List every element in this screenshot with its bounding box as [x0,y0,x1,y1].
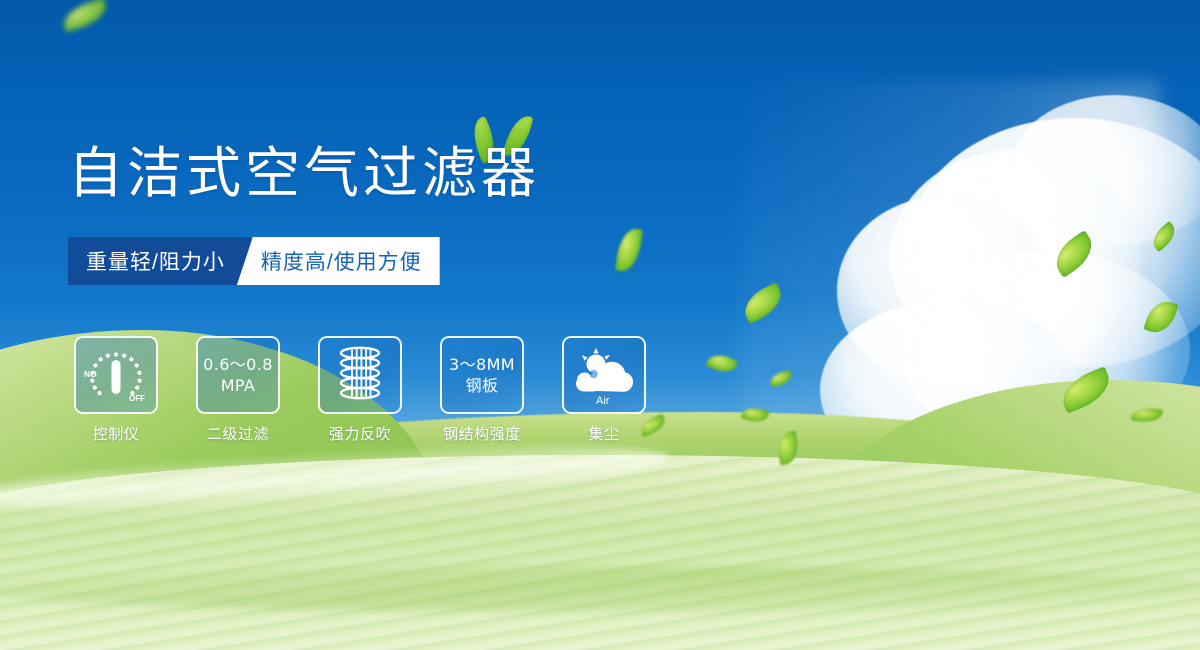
pressure-value: 0.6～0.8 [203,354,273,375]
feature-icon-box: 0.6～0.8 MPA [196,336,280,414]
feature-item-steel-strength[interactable]: 3～8MM 钢板 钢结构强度 [434,336,530,444]
feature-item-secondary-filter[interactable]: 0.6～0.8 MPA 二级过滤 [190,336,286,444]
product-banner: 自洁式空气过滤器 重量轻/阻力小 精度高/使用方便 [0,0,1200,650]
feature-label: 二级过滤 [190,423,286,444]
feature-label: 集尘 [556,423,652,444]
feature-label: 强力反吹 [312,423,408,444]
subtitle-bar: 重量轻/阻力小 精度高/使用方便 [68,237,440,285]
feature-label: 控制仪 [68,423,164,444]
pressure-unit: MPA [203,375,273,396]
gauge-off-label: OFF [129,394,145,403]
feature-list: NO OFF 控制仪 0.6～0.8 MPA 二级过滤 [68,336,652,444]
gauge-dial-icon: NO OFF [81,344,151,406]
feature-item-strong-blowback[interactable]: 强力反吹 [312,336,408,444]
feature-icon-box: NO OFF [74,336,158,414]
feature-icon-box: Air [562,336,646,414]
feature-icon-box: 3～8MM 钢板 [440,336,524,414]
page-title: 自洁式空气过滤器 [68,142,540,204]
feature-item-dust-collection[interactable]: Air 集尘 [556,336,652,444]
air-label: Air [596,395,610,407]
steel-thickness: 3～8MM [449,354,515,375]
feature-item-controller[interactable]: NO OFF 控制仪 [68,336,164,444]
steel-material: 钢板 [449,375,515,396]
grass-shadow-band [0,566,1200,612]
steel-plate-text-icon: 3～8MM 钢板 [449,354,515,396]
cloud-air-icon: Air [566,342,642,408]
feature-icon-box [318,336,402,414]
pressure-text-icon: 0.6～0.8 MPA [203,354,273,396]
subtitle-right-text: 精度高/使用方便 [237,237,440,285]
gauge-no-label: NO [84,369,97,379]
subtitle-left-text: 重量轻/阻力小 [68,237,251,285]
feature-label: 钢结构强度 [434,423,530,444]
coil-filter-icon [332,344,388,406]
